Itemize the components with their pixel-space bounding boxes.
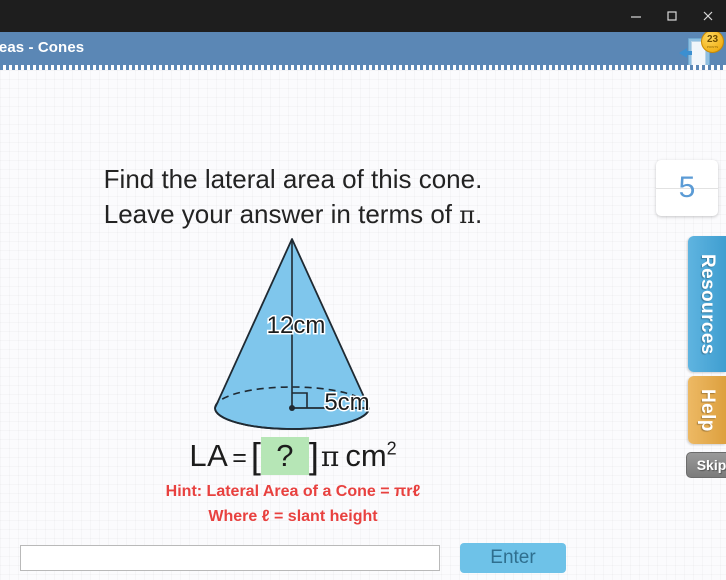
app-header: ace Areas - Cones 23 POINTS: [0, 32, 726, 65]
answer-bar: Enter: [0, 535, 586, 580]
question-counter-value: 5: [679, 173, 696, 203]
equation-bracket-open: [: [251, 435, 261, 476]
points-badge-count: 23: [707, 35, 718, 45]
exit-arrow-tail: [686, 51, 692, 55]
enter-button[interactable]: Enter: [460, 543, 566, 573]
app-window: ace Areas - Cones 23 POINTS Find the lat…: [0, 0, 726, 580]
close-icon[interactable]: [690, 0, 726, 32]
cone-diagram: 12cm 12cm 5cm 5cm: [200, 230, 395, 435]
question-line-2-pre: Leave your answer in terms of: [104, 199, 460, 229]
right-rail: 5 Resources Help Skip: [650, 140, 726, 580]
question-line-1: Find the lateral area of this cone.: [0, 162, 586, 197]
question-line-2: Leave your answer in terms of π.: [0, 197, 586, 232]
points-badge: 23 POINTS: [701, 32, 724, 53]
resources-tab-label: Resources: [696, 254, 718, 355]
equation-exponent: 2: [387, 439, 397, 459]
cone-base-center-dot: [289, 405, 295, 411]
help-tab-label: Help: [696, 389, 718, 432]
answer-blank[interactable]: ?: [261, 437, 309, 475]
page-title: ace Areas - Cones: [0, 39, 84, 56]
minimize-icon[interactable]: [618, 0, 654, 32]
resources-tab[interactable]: Resources: [688, 236, 726, 372]
help-tab[interactable]: Help: [688, 376, 726, 444]
exit-door-icon[interactable]: 23 POINTS: [678, 32, 724, 65]
window-titlebar: [0, 0, 726, 32]
equation-pi: π: [319, 440, 339, 473]
answer-equation: LA=[?]πcm2: [0, 433, 586, 475]
question-counter: 5: [656, 160, 718, 216]
skip-button[interactable]: Skip: [686, 452, 726, 478]
hint-line-2: Where ℓ = slant height: [0, 505, 586, 530]
equation-unit: cm: [339, 438, 386, 473]
cone-radius-label: 5cm: [324, 389, 369, 416]
question-line-2-post: .: [475, 199, 482, 229]
pi-symbol: π: [459, 201, 475, 229]
cone-height-label: 12cm: [267, 312, 326, 339]
answer-input[interactable]: [20, 545, 440, 571]
hint-text: Hint: Lateral Area of a Cone = πrℓ Where…: [0, 480, 586, 530]
hint-line-1: Hint: Lateral Area of a Cone = πrℓ: [0, 480, 586, 505]
points-badge-label: POINTS: [707, 46, 718, 49]
question-text: Find the lateral area of this cone. Leav…: [0, 162, 586, 233]
equation-bracket-close: ]: [309, 435, 319, 476]
maximize-icon[interactable]: [654, 0, 690, 32]
equation-label: LA: [189, 438, 228, 473]
equation-equals: =: [228, 444, 251, 472]
main-content: Find the lateral area of this cone. Leav…: [0, 70, 726, 580]
